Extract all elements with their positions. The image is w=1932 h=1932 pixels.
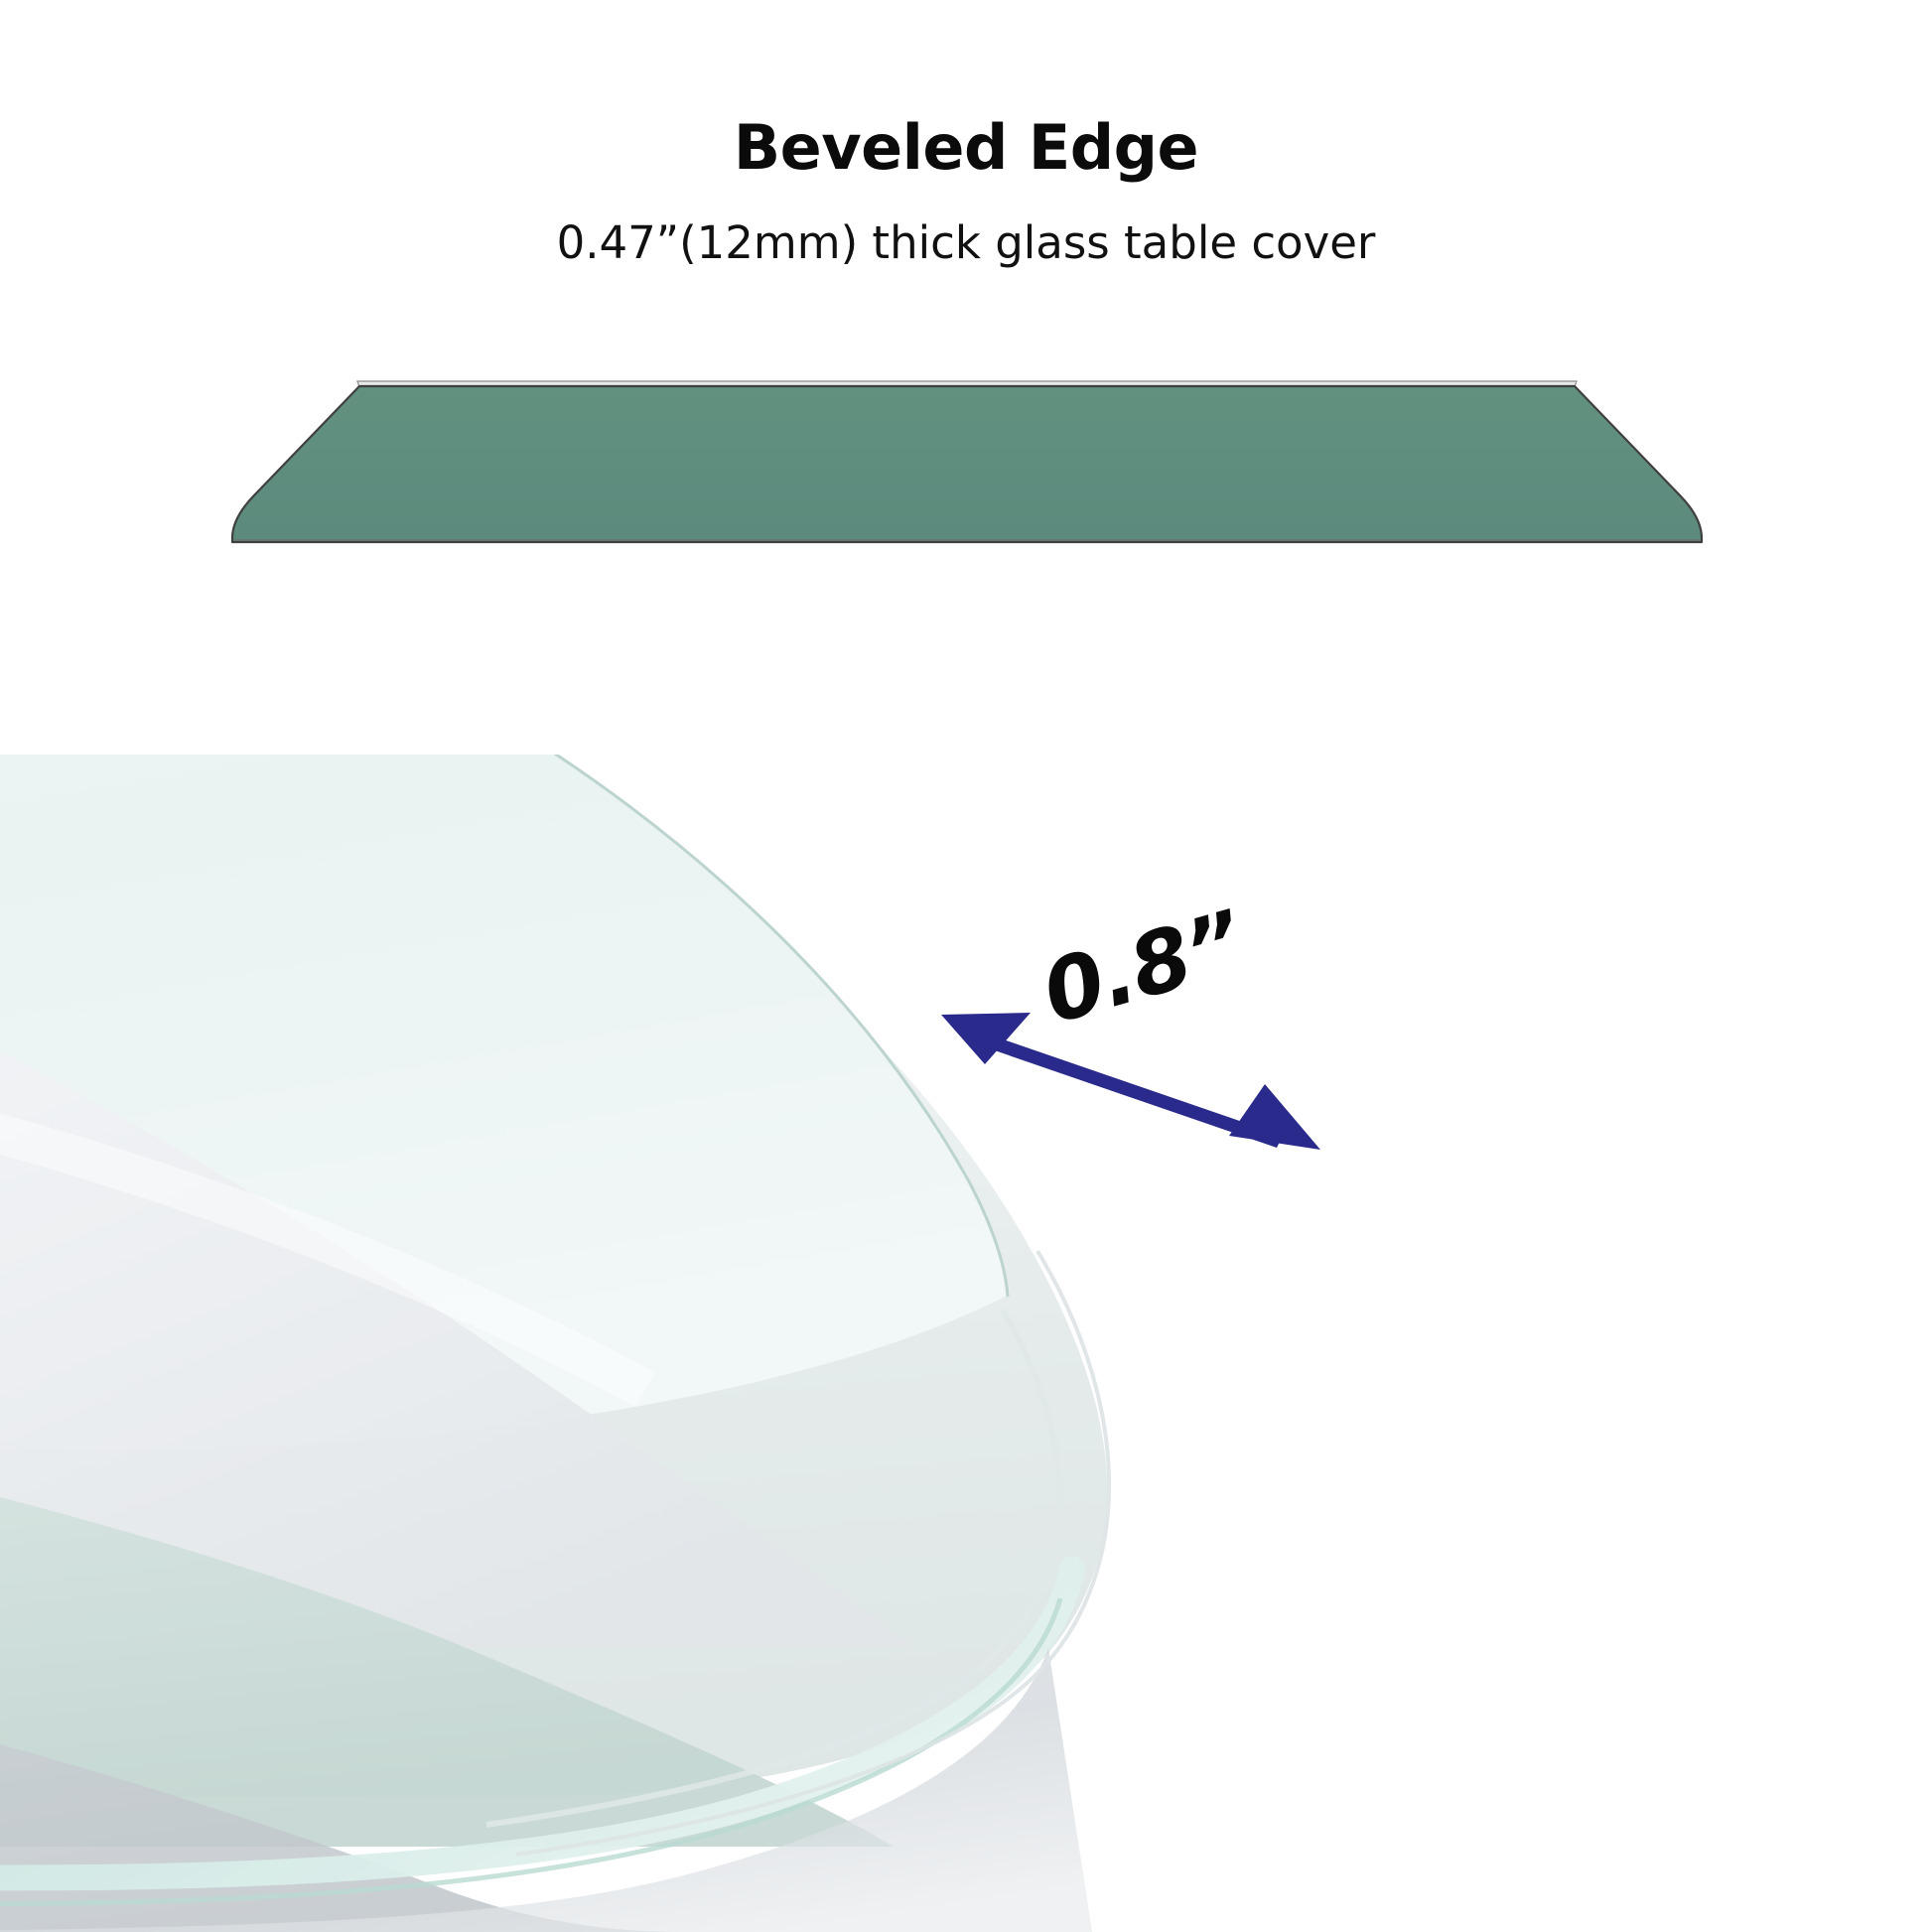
image-canvas: Beveled Edge 0.47”(12mm) thick glass tab… bbox=[0, 0, 1932, 1932]
heading-block: Beveled Edge 0.47”(12mm) thick glass tab… bbox=[0, 117, 1932, 265]
cross-section-panel bbox=[147, 338, 1787, 586]
page-title: Beveled Edge bbox=[0, 117, 1932, 179]
page-subtitle: 0.47”(12mm) thick glass table cover bbox=[0, 220, 1932, 265]
cross-section-diagram bbox=[147, 338, 1787, 586]
glass-slab-profile bbox=[232, 386, 1702, 542]
